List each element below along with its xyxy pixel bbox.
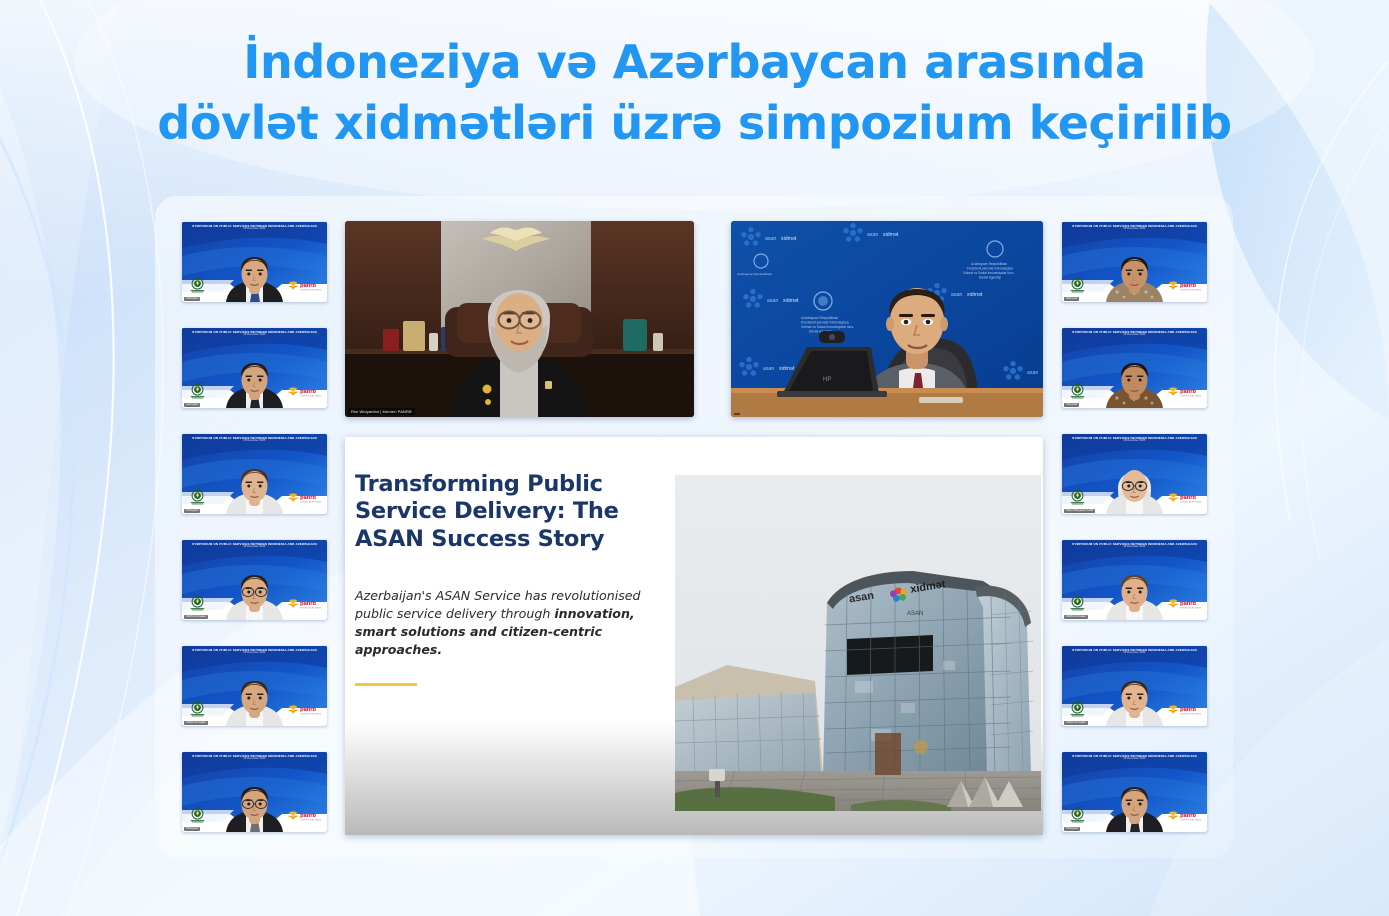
svg-text:asan: asan <box>1027 370 1038 376</box>
thumbnail-banner-date: 09 December 2025 <box>182 652 327 655</box>
thumbnail-banner-text: SYMPOSIUM ON PUBLIC SERVICES BETWEEN IND… <box>182 754 327 761</box>
svg-text:KEMENTERIAN PANRB: KEMENTERIAN PANRB <box>300 288 321 291</box>
panrb-logo-icon: panrb KEMENTERIAN PANRB <box>287 280 321 292</box>
svg-text:KEMENTERIAN PANRB: KEMENTERIAN PANRB <box>1180 394 1201 397</box>
official-video-frame: asan xidmət asan xidmət asan xidmət asan… <box>731 221 1043 417</box>
thumbnail-banner-text: SYMPOSIUM ON PUBLIC SERVICES BETWEEN IND… <box>1062 754 1207 761</box>
svg-text:asan: asan <box>867 232 878 238</box>
svg-text:KEMENTERIAN PANRB: KEMENTERIAN PANRB <box>300 818 321 821</box>
panrb-logo-icon: panrb KEMENTERIAN PANRB <box>287 492 321 504</box>
indonesia-emblem-icon <box>1069 382 1086 399</box>
svg-text:asan: asan <box>765 236 776 242</box>
slide-title: Transforming Public Service Delivery: Th… <box>355 471 645 553</box>
svg-text:xidmət: xidmət <box>783 298 799 304</box>
indonesia-emblem <box>1069 806 1086 823</box>
panrb-logo-icon: panrb KEMENTERIAN PANRB <box>1167 386 1201 398</box>
svg-text:KEMENTERIAN PANRB: KEMENTERIAN PANRB <box>1180 606 1201 609</box>
indonesia-emblem <box>189 382 206 399</box>
thumbnail-banner-text: SYMPOSIUM ON PUBLIC SERVICES BETWEEN IND… <box>182 542 327 549</box>
panrb-logo-icon: panrb KEMENTERIAN PANRB <box>1167 280 1201 292</box>
minister-video-frame <box>345 221 694 417</box>
participant-name-chip: Azerbaijan <box>184 297 200 301</box>
indonesia-emblem <box>1069 488 1086 505</box>
participant-name-chip: Participant <box>1064 827 1080 831</box>
participant-thumbnail-participant-5[interactable]: SYMPOSIUM ON PUBLIC SERVICES BETWEEN IND… <box>182 646 327 726</box>
panrb-logo: panrb KEMENTERIAN PANRB <box>1167 597 1201 610</box>
slide-subtitle: Azerbaijan's ASAN Service has revolution… <box>355 587 645 659</box>
participant-name-chip: Ditjen Pelayanan Publik <box>1064 509 1095 513</box>
thumbnail-banner-date: 09 December 2025 <box>1062 652 1207 655</box>
participant-thumbnail-participant-11[interactable]: SYMPOSIUM ON PUBLIC SERVICES BETWEEN IND… <box>1062 646 1207 726</box>
thumbnail-banner-date: 09 December 2025 <box>1062 758 1207 761</box>
participant-thumbnail-participant-10[interactable]: SYMPOSIUM ON PUBLIC SERVICES BETWEEN IND… <box>1062 540 1207 620</box>
svg-text:Azərbaycan Respublikası: Azərbaycan Respublikası <box>801 316 838 320</box>
participant-thumbnail-participant-8[interactable]: SYMPOSIUM ON PUBLIC SERVICES BETWEEN IND… <box>1062 328 1207 408</box>
thumbnail-banner-date: 09 December 2025 <box>182 758 327 761</box>
thumbnail-banner-text: SYMPOSIUM ON PUBLIC SERVICES BETWEEN IND… <box>1062 542 1207 549</box>
panrb-logo: panrb KEMENTERIAN PANRB <box>287 279 321 292</box>
participant-name-chip: Indonesia <box>1064 403 1079 407</box>
svg-text:Xidmət və Sosial İnnovasiyalar: Xidmət və Sosial İnnovasiyalar üzrə <box>963 270 1014 275</box>
video-tile-official[interactable]: asan xidmət asan xidmət asan xidmət asan… <box>731 221 1043 417</box>
panrb-logo-icon: panrb KEMENTERIAN PANRB <box>1167 598 1201 610</box>
indonesia-emblem <box>1069 382 1086 399</box>
svg-text:KEMENTERIAN PANRB: KEMENTERIAN PANRB <box>300 606 321 609</box>
shared-screen-slide[interactable]: Transforming Public Service Delivery: Th… <box>345 437 1043 835</box>
svg-text:panrb: panrb <box>300 813 316 819</box>
participant-thumbnail-participant-1[interactable]: SYMPOSIUM ON PUBLIC SERVICES BETWEEN IND… <box>182 222 327 302</box>
indonesia-emblem <box>1069 700 1086 717</box>
indonesia-emblem-icon <box>189 488 206 505</box>
video-conference-grid: SYMPOSIUM ON PUBLIC SERVICES BETWEEN IND… <box>0 0 1389 916</box>
panrb-logo-icon: panrb KEMENTERIAN PANRB <box>1167 704 1201 716</box>
svg-text:KEMENTERIAN PANRB: KEMENTERIAN PANRB <box>1180 712 1201 715</box>
panrb-logo: panrb KEMENTERIAN PANRB <box>287 809 321 822</box>
svg-text:HP: HP <box>823 377 831 383</box>
tile-minister-name-label: Rini Widyantini | Menteri PANRB <box>348 408 415 415</box>
panrb-logo: panrb KEMENTERIAN PANRB <box>287 703 321 716</box>
svg-text:Dövlət Agentliyi: Dövlət Agentliyi <box>979 276 1001 280</box>
thumbnail-banner-text: SYMPOSIUM ON PUBLIC SERVICES BETWEEN IND… <box>1062 436 1207 443</box>
indonesia-emblem <box>189 488 206 505</box>
indonesia-emblem <box>1069 594 1086 611</box>
thumbnail-banner-date: 09 December 2025 <box>1062 228 1207 231</box>
svg-text:Prezidenti yanında Vətəndaşlar: Prezidenti yanında Vətəndaşlara <box>967 267 1013 271</box>
participant-name-chip: Participant <box>184 827 200 831</box>
thumbnail-banner-date: 09 December 2025 <box>1062 440 1207 443</box>
participant-name-chip: ASAN Azerbaijan <box>184 615 208 619</box>
indonesia-emblem-icon <box>189 700 206 717</box>
panrb-logo: panrb KEMENTERIAN PANRB <box>1167 809 1201 822</box>
thumbnail-banner-date: 09 December 2025 <box>182 440 327 443</box>
indonesia-emblem-icon <box>1069 488 1086 505</box>
indonesia-emblem <box>189 806 206 823</box>
svg-text:panrb: panrb <box>1180 283 1196 289</box>
participant-thumbnail-participant-9[interactable]: SYMPOSIUM ON PUBLIC SERVICES BETWEEN IND… <box>1062 434 1207 514</box>
participant-thumbnail-participant-6[interactable]: SYMPOSIUM ON PUBLIC SERVICES BETWEEN IND… <box>182 752 327 832</box>
indonesia-emblem <box>1069 276 1086 293</box>
thumbnail-banner-text: SYMPOSIUM ON PUBLIC SERVICES BETWEEN IND… <box>1062 224 1207 231</box>
panrb-logo-icon: panrb KEMENTERIAN PANRB <box>287 598 321 610</box>
indonesia-emblem-icon <box>1069 806 1086 823</box>
thumbnail-banner-text: SYMPOSIUM ON PUBLIC SERVICES BETWEEN IND… <box>182 648 327 655</box>
thumbnail-banner-text: SYMPOSIUM ON PUBLIC SERVICES BETWEEN IND… <box>182 330 327 337</box>
svg-text:KEMENTERIAN PANRB: KEMENTERIAN PANRB <box>300 500 321 503</box>
svg-text:xidmət: xidmət <box>967 292 983 298</box>
indonesia-emblem <box>189 276 206 293</box>
panrb-logo-icon: panrb KEMENTERIAN PANRB <box>1167 810 1201 822</box>
svg-text:Prezidenti yanında Vətəndaşlar: Prezidenti yanında Vətəndaşlara <box>801 321 849 325</box>
indonesia-emblem-icon <box>1069 594 1086 611</box>
thumbnail-banner-date: 09 December 2025 <box>182 546 327 549</box>
svg-text:panrb: panrb <box>300 389 316 395</box>
panrb-logo-icon: panrb KEMENTERIAN PANRB <box>287 704 321 716</box>
svg-text:panrb: panrb <box>300 495 316 501</box>
svg-text:Xidmət və Sosial İnnovasiyalar: Xidmət və Sosial İnnovasiyalar üzrə <box>801 324 853 329</box>
participant-thumbnail-participant-12[interactable]: SYMPOSIUM ON PUBLIC SERVICES BETWEEN IND… <box>1062 752 1207 832</box>
participant-thumbnail-participant-7[interactable]: SYMPOSIUM ON PUBLIC SERVICES BETWEEN IND… <box>1062 222 1207 302</box>
panrb-logo-icon: panrb KEMENTERIAN PANRB <box>287 386 321 398</box>
svg-text:KEMENTERIAN PANRB: KEMENTERIAN PANRB <box>1180 818 1201 821</box>
indonesia-emblem-icon <box>189 382 206 399</box>
panrb-logo: panrb KEMENTERIAN PANRB <box>1167 385 1201 398</box>
indonesia-emblem <box>189 700 206 717</box>
svg-text:panrb: panrb <box>1180 495 1196 501</box>
svg-text:asan: asan <box>767 298 778 304</box>
slide-photo-asan-building: asan xidmət ASAN <box>675 475 1041 811</box>
panrb-logo: panrb KEMENTERIAN PANRB <box>287 491 321 504</box>
indonesia-emblem-icon <box>189 276 206 293</box>
svg-text:asan: asan <box>763 366 774 372</box>
indonesia-emblem-icon <box>1069 276 1086 293</box>
svg-text:Azərbaycan Respublikası: Azərbaycan Respublikası <box>971 262 1007 266</box>
participant-thumbnail-participant-2[interactable]: SYMPOSIUM ON PUBLIC SERVICES BETWEEN IND… <box>182 328 327 408</box>
svg-text:KEMENTERIAN PANRB: KEMENTERIAN PANRB <box>1180 500 1201 503</box>
thumbnail-banner-date: 09 December 2025 <box>182 334 327 337</box>
participant-name-chip: ASAN Azerbaijan <box>1064 721 1088 725</box>
slide-text-block: Transforming Public Service Delivery: Th… <box>355 471 645 686</box>
participant-column-left: SYMPOSIUM ON PUBLIC SERVICES BETWEEN IND… <box>182 222 327 832</box>
thumbnail-banner-date: 09 December 2025 <box>182 228 327 231</box>
participant-name-chip: Participant <box>184 509 200 513</box>
svg-text:KEMENTERIAN PANRB: KEMENTERIAN PANRB <box>1180 288 1201 291</box>
svg-text:xidmət: xidmət <box>883 232 899 238</box>
indonesia-emblem <box>189 594 206 611</box>
participant-name-chip: Azerbaijan <box>184 403 200 407</box>
panrb-logo: panrb KEMENTERIAN PANRB <box>287 597 321 610</box>
participant-thumbnail-participant-4[interactable]: SYMPOSIUM ON PUBLIC SERVICES BETWEEN IND… <box>182 540 327 620</box>
svg-text:panrb: panrb <box>1180 601 1196 607</box>
indonesia-emblem-icon <box>1069 700 1086 717</box>
tile-official-name-label <box>734 413 740 415</box>
thumbnail-banner-text: SYMPOSIUM ON PUBLIC SERVICES BETWEEN IND… <box>182 224 327 231</box>
svg-text:ASAN: ASAN <box>907 611 923 617</box>
participant-thumbnail-participant-3[interactable]: SYMPOSIUM ON PUBLIC SERVICES BETWEEN IND… <box>182 434 327 514</box>
svg-text:panrb: panrb <box>300 601 316 607</box>
svg-text:KEMENTERIAN PANRB: KEMENTERIAN PANRB <box>300 394 321 397</box>
indonesia-emblem-icon <box>189 806 206 823</box>
panrb-logo: panrb KEMENTERIAN PANRB <box>1167 491 1201 504</box>
indonesia-emblem-icon <box>189 594 206 611</box>
panrb-logo-icon: panrb KEMENTERIAN PANRB <box>1167 492 1201 504</box>
thumbnail-banner-date: 09 December 2025 <box>1062 546 1207 549</box>
svg-text:Azərbaycan Respublikası: Azərbaycan Respublikası <box>737 272 772 276</box>
svg-text:asan: asan <box>951 292 962 298</box>
svg-text:xidmət: xidmət <box>781 236 797 242</box>
thumbnail-banner-date: 09 December 2025 <box>1062 334 1207 337</box>
participant-name-chip: Indonesia <box>1064 297 1079 301</box>
panrb-logo: panrb KEMENTERIAN PANRB <box>1167 703 1201 716</box>
panrb-logo: panrb KEMENTERIAN PANRB <box>1167 279 1201 292</box>
thumbnail-banner-text: SYMPOSIUM ON PUBLIC SERVICES BETWEEN IND… <box>1062 648 1207 655</box>
svg-text:panrb: panrb <box>300 283 316 289</box>
participant-name-chip: ASAN Azerbaijan <box>184 721 208 725</box>
thumbnail-banner-text: SYMPOSIUM ON PUBLIC SERVICES BETWEEN IND… <box>182 436 327 443</box>
participant-name-chip: ASAN Azerbaijan <box>1064 615 1088 619</box>
svg-text:panrb: panrb <box>1180 813 1196 819</box>
panrb-logo: panrb KEMENTERIAN PANRB <box>287 385 321 398</box>
svg-text:panrb: panrb <box>1180 707 1196 713</box>
svg-text:panrb: panrb <box>300 707 316 713</box>
panrb-logo-icon: panrb KEMENTERIAN PANRB <box>287 810 321 822</box>
thumbnail-banner-text: SYMPOSIUM ON PUBLIC SERVICES BETWEEN IND… <box>1062 330 1207 337</box>
participant-column-right: SYMPOSIUM ON PUBLIC SERVICES BETWEEN IND… <box>1062 222 1207 832</box>
slide-accent-rule <box>355 683 417 686</box>
svg-text:xidmət: xidmət <box>779 366 795 372</box>
video-tile-minister[interactable]: Rini Widyantini | Menteri PANRB <box>345 221 694 417</box>
svg-text:KEMENTERIAN PANRB: KEMENTERIAN PANRB <box>300 712 321 715</box>
svg-text:panrb: panrb <box>1180 389 1196 395</box>
